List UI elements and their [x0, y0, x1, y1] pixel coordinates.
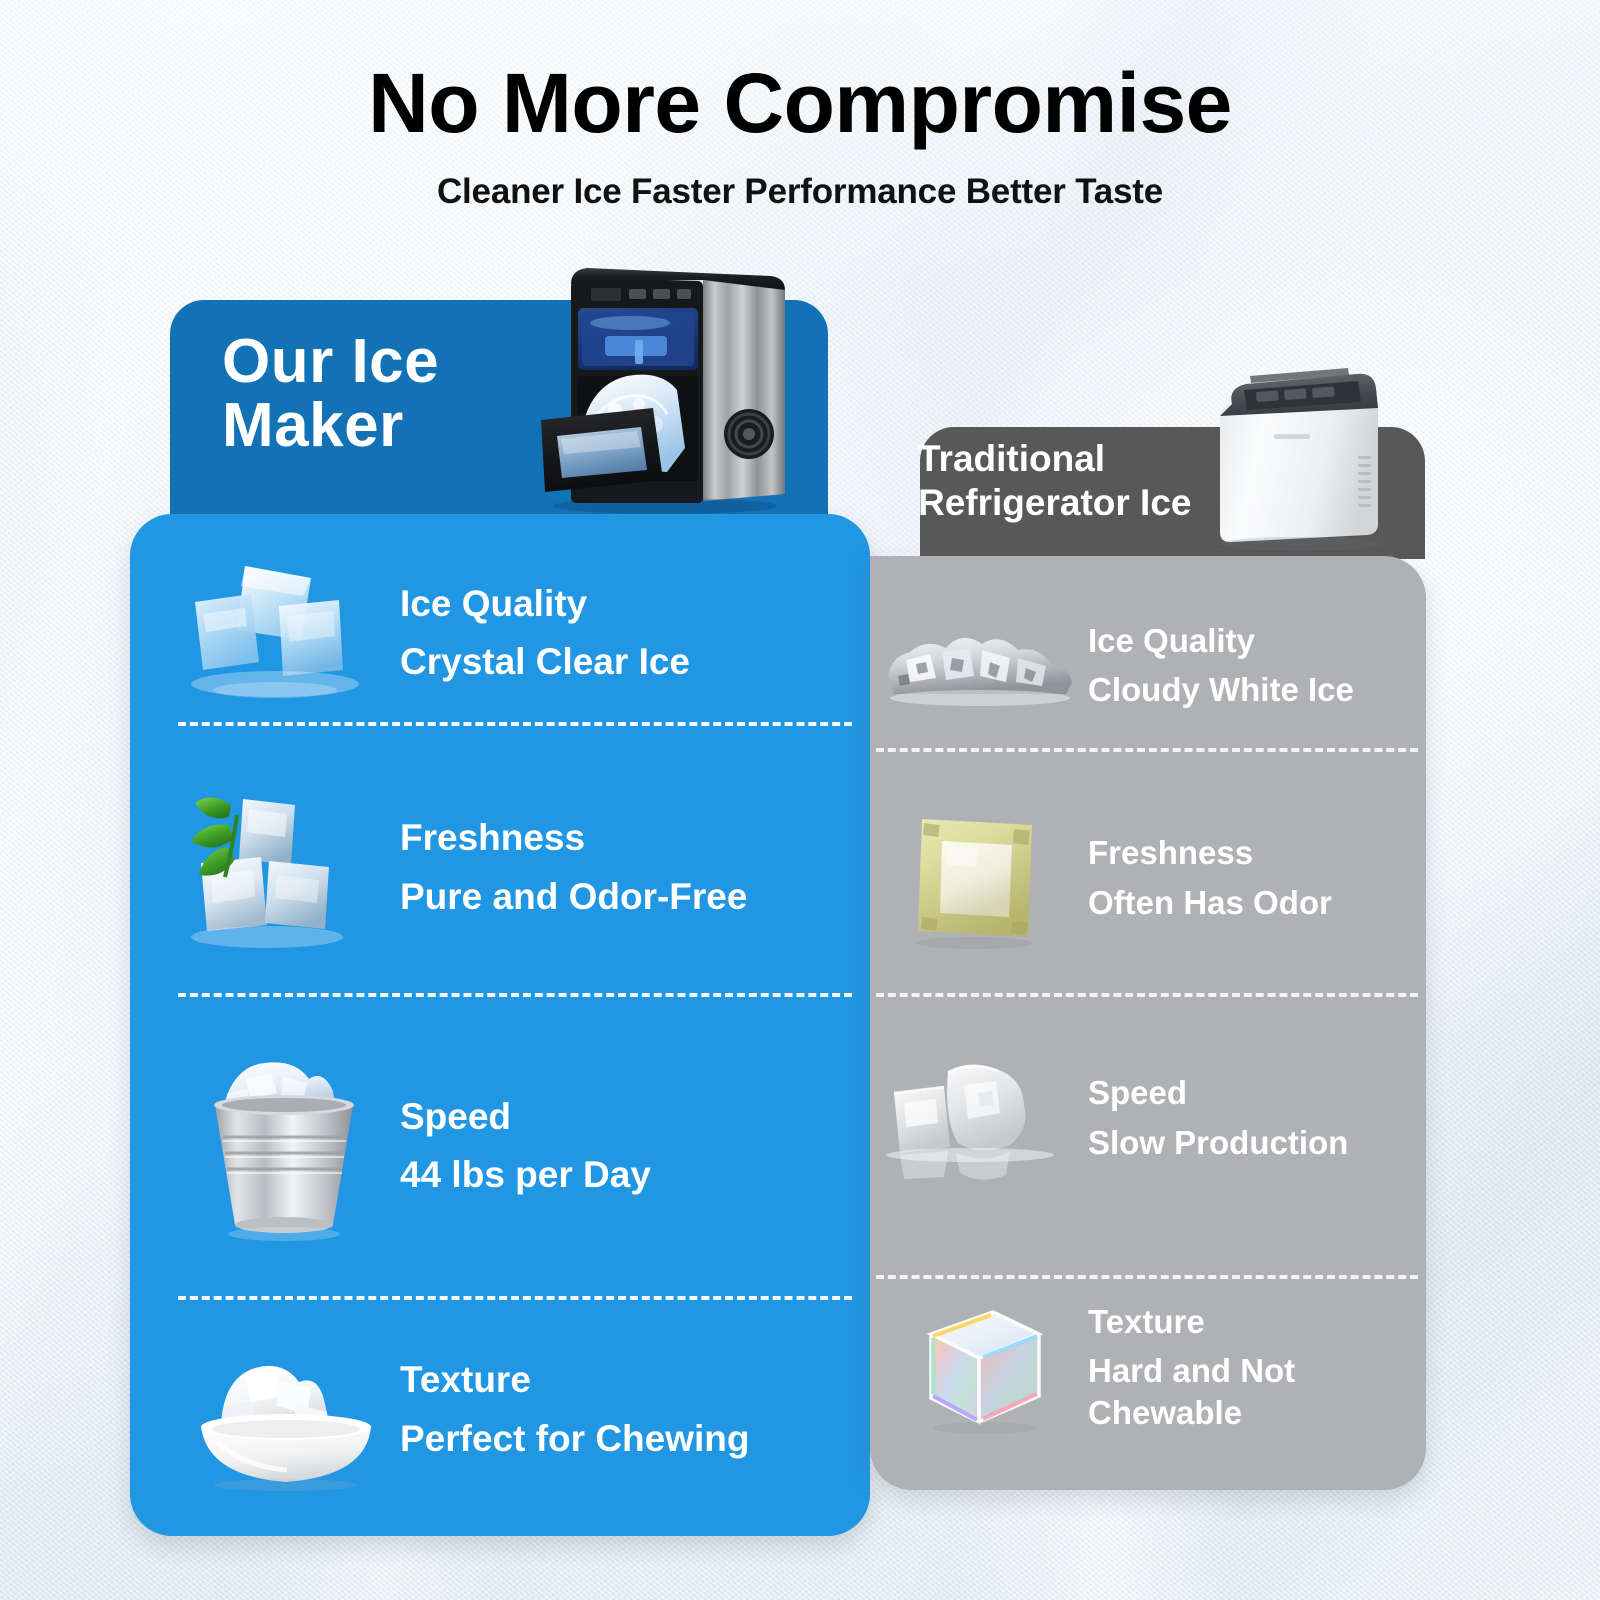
- clear-ice-cubes-icon: [170, 558, 400, 708]
- our-row-speed-value: 44 lbs per Day: [400, 1152, 651, 1198]
- page-subtitle: Cleaner Ice Faster Performance Better Ta…: [0, 172, 1600, 212]
- our-row-ice-quality-label: Ice Quality: [400, 581, 690, 627]
- our-row-speed-label: Speed: [400, 1094, 651, 1140]
- ice-cubes-with-mint-icon: [170, 785, 400, 950]
- trad-row-freshness: Freshness Often Has Odor: [876, 800, 1424, 955]
- trad-row-texture-text: Texture Hard and Not Chewable: [1088, 1301, 1424, 1433]
- trad-row-texture-value: Hard and Not Chewable: [1088, 1350, 1424, 1433]
- our-title-line-1: Our Ice: [222, 330, 552, 394]
- trad-divider-2: [876, 993, 1418, 997]
- our-row-freshness: Freshness Pure and Odor-Free: [170, 780, 850, 955]
- our-row-texture-text: Texture Perfect for Chewing: [400, 1357, 750, 1462]
- trad-row-speed-value: Slow Production: [1088, 1122, 1348, 1163]
- our-row-speed-text: Speed 44 lbs per Day: [400, 1094, 651, 1199]
- our-row-ice-quality: Ice Quality Crystal Clear Ice: [170, 548, 850, 718]
- traditional-title: Traditional Refrigerator Ice: [918, 437, 1238, 526]
- crushed-cloudy-ice-icon: [876, 608, 1088, 723]
- our-ice-maker-title: Our Ice Maker: [222, 330, 552, 458]
- trad-row-texture-label: Texture: [1088, 1301, 1424, 1342]
- trad-row-ice-quality-label: Ice Quality: [1088, 620, 1354, 661]
- our-ice-maker-product-image: [535, 248, 817, 516]
- our-row-speed: Speed 44 lbs per Day: [170, 1046, 850, 1246]
- trad-row-ice-quality: Ice Quality Cloudy White Ice: [876, 590, 1424, 740]
- our-row-ice-quality-value: Crystal Clear Ice: [400, 639, 690, 685]
- trad-row-speed: Speed Slow Production: [876, 1040, 1424, 1195]
- our-divider-2: [178, 993, 852, 997]
- our-row-freshness-value: Pure and Odor-Free: [400, 874, 747, 920]
- bowl-of-nugget-ice-icon: [170, 1330, 400, 1490]
- trad-row-speed-label: Speed: [1088, 1072, 1348, 1113]
- our-divider-3: [178, 1296, 852, 1300]
- our-row-texture: Texture Perfect for Chewing: [170, 1322, 850, 1497]
- trad-row-freshness-text: Freshness Often Has Odor: [1088, 832, 1332, 923]
- countertop-nugget-ice-maker-icon: [535, 248, 817, 516]
- our-row-freshness-text: Freshness Pure and Odor-Free: [400, 815, 747, 920]
- trad-row-speed-text: Speed Slow Production: [1088, 1072, 1348, 1163]
- trad-divider-1: [876, 748, 1418, 752]
- metal-ice-bucket-icon: [170, 1049, 400, 1244]
- page-title: No More Compromise: [0, 58, 1600, 149]
- our-row-texture-label: Texture: [400, 1357, 750, 1403]
- yellow-tinted-ice-cube-icon: [876, 805, 1088, 950]
- traditional-title-line-2: Refrigerator Ice: [918, 481, 1238, 525]
- infographic-canvas: No More Compromise Cleaner Ice Faster Pe…: [0, 0, 1600, 1600]
- our-divider-1: [178, 722, 852, 726]
- melting-ice-cubes-icon: [876, 1043, 1088, 1193]
- our-row-ice-quality-text: Ice Quality Crystal Clear Ice: [400, 581, 690, 686]
- our-row-freshness-label: Freshness: [400, 815, 747, 861]
- trad-row-freshness-value: Often Has Odor: [1088, 882, 1332, 923]
- trad-row-ice-quality-value: Cloudy White Ice: [1088, 669, 1354, 710]
- side-vent-icon: [724, 409, 774, 459]
- trad-row-freshness-label: Freshness: [1088, 832, 1332, 873]
- trad-divider-3: [876, 1275, 1418, 1279]
- mint-leaves-icon: [191, 797, 237, 877]
- trad-row-texture: Texture Hard and Not Chewable: [876, 1292, 1424, 1442]
- our-row-texture-value: Perfect for Chewing: [400, 1416, 750, 1462]
- our-title-line-2: Maker: [222, 394, 552, 458]
- traditional-title-line-1: Traditional: [918, 437, 1238, 481]
- hard-crystal-cube-icon: [876, 1300, 1088, 1435]
- trad-row-ice-quality-text: Ice Quality Cloudy White Ice: [1088, 620, 1354, 711]
